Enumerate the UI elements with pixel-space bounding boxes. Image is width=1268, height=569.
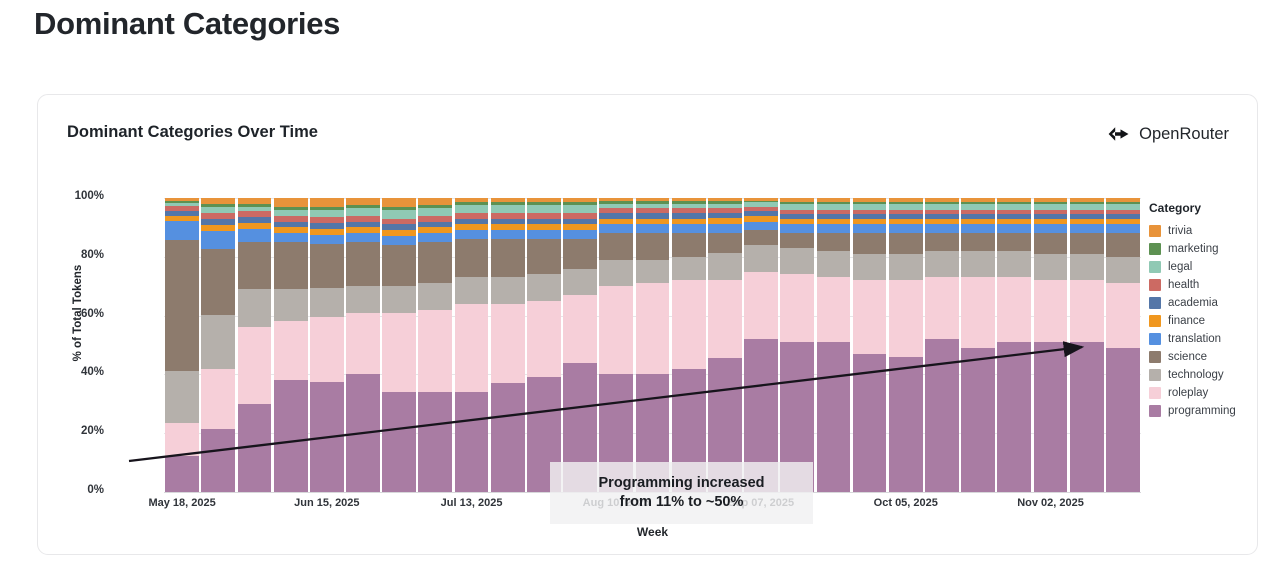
bar-column[interactable]: [817, 198, 851, 492]
bar-segment-marketing: [636, 201, 670, 204]
bar-segment-marketing: [274, 207, 308, 210]
x-axis-label: Week: [164, 525, 1141, 539]
bar-segment-legal: [672, 204, 706, 208]
bar-segment-finance: [599, 219, 633, 225]
chart-card: Dominant Categories Over Time OpenRouter…: [37, 94, 1258, 555]
bar-segment-science: [491, 239, 525, 277]
bar-column[interactable]: [708, 198, 742, 492]
bar-segment-trivia: [853, 198, 887, 202]
bar-segment-science: [527, 239, 561, 274]
bar-segment-legal: [418, 208, 452, 215]
annotation-line-1: Programming increased: [599, 474, 765, 493]
bar-segment-finance: [925, 219, 959, 225]
bar-column[interactable]: [1070, 198, 1104, 492]
bar-segment-health: [780, 210, 814, 214]
legend-label: finance: [1168, 315, 1205, 327]
bar-segment-science: [708, 233, 742, 253]
bar-segment-marketing: [346, 205, 380, 208]
bar-column[interactable]: [491, 198, 525, 492]
bar-segment-health: [708, 208, 742, 212]
bar-segment-marketing: [491, 202, 525, 205]
bar-segment-translation: [201, 231, 235, 249]
bar-segment-marketing: [708, 201, 742, 204]
x-tick-label: Nov 02, 2025: [991, 497, 1111, 509]
legend-swatch-finance: [1149, 315, 1161, 327]
legend-swatch-roleplay: [1149, 387, 1161, 399]
bar-segment-legal: [165, 203, 199, 206]
bar-segment-roleplay: [889, 280, 923, 356]
legend-swatch-translation: [1149, 333, 1161, 345]
legend-label: science: [1168, 351, 1207, 363]
bar-segment-science: [672, 233, 706, 257]
bar-segment-programming: [961, 348, 995, 492]
bar-segment-technology: [455, 277, 489, 303]
bar-segment-roleplay: [418, 310, 452, 392]
bar-segment-trivia: [1106, 198, 1140, 202]
bar-segment-science: [310, 244, 344, 288]
bar-segment-technology: [563, 269, 597, 295]
bar-segment-roleplay: [780, 274, 814, 342]
bar-segment-academia: [1106, 214, 1140, 218]
bar-segment-marketing: [961, 202, 995, 203]
bar-segment-trivia: [165, 198, 199, 201]
bar-segment-programming: [1034, 342, 1068, 492]
bar-segment-technology: [165, 371, 199, 423]
bar-segment-science: [636, 233, 670, 259]
bar-segment-health: [491, 213, 525, 219]
bar-segment-translation: [925, 224, 959, 233]
bar-segment-translation: [817, 224, 851, 233]
bar-segment-legal: [491, 205, 525, 212]
x-tick-label: Jul 13, 2025: [412, 497, 532, 509]
bar-segment-marketing: [165, 201, 199, 203]
bar-segment-finance: [744, 216, 778, 222]
legend-title: Category: [1149, 201, 1268, 215]
bar-segment-legal: [817, 204, 851, 210]
bar-segment-technology: [599, 260, 633, 286]
legend-item-science[interactable]: science: [1149, 348, 1268, 366]
bar-segment-roleplay: [1034, 280, 1068, 342]
bar-segment-finance: [165, 216, 199, 221]
bar-segment-science: [274, 242, 308, 289]
bar-segment-legal: [455, 205, 489, 212]
bar-segment-academia: [853, 214, 887, 218]
bar-column[interactable]: [455, 198, 489, 492]
bar-segment-technology: [418, 283, 452, 309]
legend-item-academia[interactable]: academia: [1149, 294, 1268, 312]
bar-segment-technology: [997, 251, 1031, 277]
bar-segment-programming: [165, 456, 199, 492]
legend-label: legal: [1168, 261, 1192, 273]
bar-column[interactable]: [672, 198, 706, 492]
bar-segment-technology: [491, 277, 525, 303]
bar-segment-health: [1106, 210, 1140, 214]
bar-segment-academia: [563, 219, 597, 225]
bar-segment-roleplay: [346, 313, 380, 375]
bar-segment-finance: [274, 227, 308, 233]
x-tick-label: Oct 05, 2025: [846, 497, 966, 509]
bar-segment-translation: [527, 230, 561, 239]
bar-segment-marketing: [599, 201, 633, 204]
bar-column[interactable]: [853, 198, 887, 492]
bar-column[interactable]: [889, 198, 923, 492]
bar-segment-trivia: [310, 198, 344, 207]
bar-segment-health: [1070, 210, 1104, 214]
annotation-line-2: from 11% to ~50%: [620, 493, 744, 512]
legend-item-trivia[interactable]: trivia: [1149, 222, 1268, 240]
bar-segment-roleplay: [274, 321, 308, 380]
bar-segment-legal: [1070, 204, 1104, 210]
bar-segment-roleplay: [201, 369, 235, 429]
bar-segment-marketing: [527, 202, 561, 205]
bar-segment-academia: [599, 213, 633, 219]
bar-segment-roleplay: [708, 280, 742, 359]
bar-segment-legal: [780, 204, 814, 210]
bar-segment-science: [997, 233, 1031, 251]
bar-segment-programming: [201, 429, 235, 492]
legend-swatch-health: [1149, 279, 1161, 291]
bar-segment-technology: [346, 286, 380, 312]
bar-segment-science: [563, 239, 597, 268]
bar-segment-finance: [853, 219, 887, 225]
bar-segment-roleplay: [1070, 280, 1104, 342]
bar-segment-programming: [455, 392, 489, 492]
bar-segment-science: [165, 240, 199, 371]
bar-segment-health: [1034, 210, 1068, 214]
bar-segment-translation: [310, 235, 344, 244]
bar-segment-technology: [1070, 254, 1104, 280]
bar-segment-finance: [346, 227, 380, 233]
bar-segment-science: [961, 233, 995, 251]
legend-item-health[interactable]: health: [1149, 276, 1268, 294]
bar-segment-finance: [672, 219, 706, 225]
bar-segment-science: [1106, 233, 1140, 257]
bar-segment-academia: [382, 224, 416, 230]
bar-segment-academia: [165, 211, 199, 216]
bar-segment-finance: [238, 223, 272, 229]
bar-segment-technology: [925, 251, 959, 277]
bar-segment-translation: [636, 224, 670, 233]
bar-segment-technology: [382, 286, 416, 312]
bar-column[interactable]: [961, 198, 995, 492]
bar-segment-health: [925, 210, 959, 214]
legend-item-marketing[interactable]: marketing: [1149, 240, 1268, 258]
bar-segment-legal: [563, 205, 597, 212]
bar-segment-finance: [1034, 219, 1068, 225]
bar-segment-health: [201, 213, 235, 219]
bar-segment-finance: [527, 224, 561, 230]
bar-segment-science: [780, 233, 814, 248]
bar-segment-trivia: [672, 198, 706, 201]
bar-segment-programming: [889, 357, 923, 492]
bar-segment-marketing: [382, 207, 416, 210]
legend-label: roleplay: [1168, 387, 1208, 399]
bar-segment-programming: [238, 404, 272, 492]
legend-swatch-trivia: [1149, 225, 1161, 237]
bar-segment-academia: [1070, 214, 1104, 218]
bar-segment-marketing: [1034, 202, 1068, 203]
legend-swatch-programming: [1149, 405, 1161, 417]
bar-segment-trivia: [1070, 198, 1104, 202]
bar-segment-health: [997, 210, 1031, 214]
bar-segment-health: [346, 216, 380, 222]
bar-segment-trivia: [889, 198, 923, 202]
bar-column[interactable]: [1034, 198, 1068, 492]
bar-segment-academia: [780, 214, 814, 218]
bar-segment-health: [853, 210, 887, 214]
bar-segment-finance: [708, 218, 742, 224]
bar-segment-academia: [491, 219, 525, 225]
bar-segment-academia: [201, 219, 235, 225]
bar-segment-legal: [925, 204, 959, 210]
bar-segment-marketing: [817, 202, 851, 203]
bar-segment-academia: [455, 219, 489, 225]
bar-column[interactable]: [925, 198, 959, 492]
bar-column[interactable]: [382, 198, 416, 492]
bar-segment-academia: [925, 214, 959, 218]
bar-column[interactable]: [997, 198, 1031, 492]
bar-segment-finance: [418, 227, 452, 233]
bar-segment-trivia: [599, 198, 633, 201]
bar-segment-trivia: [817, 198, 851, 202]
bar-segment-academia: [744, 211, 778, 215]
bar-segment-programming: [925, 339, 959, 492]
annotation-callout: Programming increased from 11% to ~50%: [550, 462, 813, 524]
legend-item-technology[interactable]: technology: [1149, 366, 1268, 384]
legend-label: academia: [1168, 297, 1218, 309]
bar-segment-marketing: [889, 202, 923, 203]
bar-segment-finance: [997, 219, 1031, 225]
bar-column[interactable]: [563, 198, 597, 492]
bar-segment-academia: [310, 223, 344, 229]
bar-segment-legal: [599, 204, 633, 208]
bar-segment-programming: [310, 382, 344, 492]
bar-segment-finance: [201, 225, 235, 231]
bar-segment-translation: [238, 229, 272, 242]
bar-segment-trivia: [418, 198, 452, 205]
bar-segment-marketing: [310, 207, 344, 210]
bar-segment-roleplay: [382, 313, 416, 392]
bar-column[interactable]: [527, 198, 561, 492]
bar-segment-academia: [672, 213, 706, 219]
bar-segment-marketing: [238, 204, 272, 207]
bar-segment-science: [382, 245, 416, 286]
bar-segment-technology: [1106, 257, 1140, 283]
bar-segment-trivia: [346, 198, 380, 205]
bar-segment-marketing: [563, 202, 597, 205]
bar-segment-technology: [310, 288, 344, 317]
y-tick-label: 20%: [48, 425, 104, 437]
legend-item-programming[interactable]: programming: [1149, 402, 1268, 420]
bar-segment-finance: [780, 219, 814, 225]
bar-segment-translation: [1106, 224, 1140, 233]
legend-swatch-marketing: [1149, 243, 1161, 255]
bar-segment-marketing: [672, 201, 706, 204]
x-tick-label: Jun 15, 2025: [267, 497, 387, 509]
bar-segment-roleplay: [165, 423, 199, 456]
bar-column[interactable]: [1106, 198, 1140, 492]
bar-segment-technology: [1034, 254, 1068, 280]
bar-segment-technology: [961, 251, 995, 277]
bar-segment-academia: [527, 219, 561, 225]
bar-segment-health: [238, 211, 272, 217]
legend-swatch-academia: [1149, 297, 1161, 309]
y-tick-label: 100%: [48, 190, 104, 202]
bar-column[interactable]: [418, 198, 452, 492]
legend-item-legal[interactable]: legal: [1149, 258, 1268, 276]
bar-segment-science: [238, 242, 272, 289]
bar-segment-academia: [708, 213, 742, 219]
bar-segment-roleplay: [563, 295, 597, 363]
bar-segment-programming: [382, 392, 416, 492]
legend-item-roleplay[interactable]: roleplay: [1149, 384, 1268, 402]
bar-segment-translation: [455, 230, 489, 239]
bar-segment-programming: [817, 342, 851, 492]
bar-segment-programming: [1106, 348, 1140, 492]
bar-segment-translation: [889, 224, 923, 233]
legend: Category triviamarketinglegalhealthacade…: [1149, 201, 1268, 420]
bar-segment-trivia: [274, 198, 308, 207]
bar-segment-technology: [201, 315, 235, 369]
bar-segment-academia: [817, 214, 851, 218]
bar-column[interactable]: [201, 198, 235, 492]
bar-segment-health: [455, 213, 489, 219]
legend-swatch-science: [1149, 351, 1161, 363]
bar-segment-health: [961, 210, 995, 214]
bar-segment-technology: [853, 254, 887, 280]
legend-label: programming: [1168, 405, 1236, 417]
bar-segment-finance: [491, 224, 525, 230]
bar-segment-health: [744, 207, 778, 211]
bar-segment-academia: [238, 217, 272, 223]
bar-segment-health: [527, 213, 561, 219]
bar-segment-translation: [382, 236, 416, 245]
bar-segment-programming: [997, 342, 1031, 492]
bar-segment-academia: [889, 214, 923, 218]
bar-segment-legal: [744, 202, 778, 206]
bar-segment-technology: [889, 254, 923, 280]
x-tick-label: May 18, 2025: [122, 497, 242, 509]
bar-segment-roleplay: [997, 277, 1031, 342]
bar-segment-roleplay: [527, 301, 561, 377]
bar-segment-legal: [274, 210, 308, 216]
bar-segment-programming: [346, 374, 380, 492]
legend-label: technology: [1168, 369, 1224, 381]
bar-segment-technology: [780, 248, 814, 274]
bar-segment-legal: [636, 204, 670, 208]
bar-segment-roleplay: [238, 327, 272, 403]
bar-segment-marketing: [418, 205, 452, 208]
bar-segment-health: [274, 216, 308, 222]
bar-segment-finance: [1106, 219, 1140, 225]
bar-segment-legal: [889, 204, 923, 210]
bar-segment-health: [310, 217, 344, 223]
legend-item-finance[interactable]: finance: [1149, 312, 1268, 330]
bar-segment-health: [563, 213, 597, 219]
bar-segment-roleplay: [925, 277, 959, 339]
bar-segment-technology: [527, 274, 561, 300]
bar-segment-trivia: [491, 198, 525, 202]
bar-segment-health: [382, 219, 416, 225]
bar-segment-roleplay: [817, 277, 851, 342]
bar-segment-marketing: [997, 202, 1031, 203]
bar-segment-science: [817, 233, 851, 251]
bar-segment-science: [889, 233, 923, 254]
bar-segment-roleplay: [744, 272, 778, 340]
bar-segment-technology: [817, 251, 851, 277]
bar-segment-academia: [418, 222, 452, 228]
bar-column[interactable]: [636, 198, 670, 492]
bar-column[interactable]: [599, 198, 633, 492]
bar-segment-legal: [238, 207, 272, 211]
legend-swatch-technology: [1149, 369, 1161, 381]
bar-segment-trivia: [382, 198, 416, 207]
bar-segment-translation: [744, 222, 778, 231]
bar-segment-roleplay: [310, 317, 344, 382]
bar-segment-technology: [708, 253, 742, 279]
bar-segment-science: [925, 233, 959, 251]
bar-segment-roleplay: [599, 286, 633, 374]
bar-segment-science: [1070, 233, 1104, 254]
bar-column[interactable]: [346, 198, 380, 492]
legend-label: health: [1168, 279, 1199, 291]
bar-segment-health: [889, 210, 923, 214]
bar-segment-academia: [636, 213, 670, 219]
bar-segment-roleplay: [455, 304, 489, 392]
bar-segment-translation: [997, 224, 1031, 233]
bar-segment-legal: [310, 210, 344, 217]
bar-segment-roleplay: [672, 280, 706, 368]
legend-label: translation: [1168, 333, 1221, 345]
bar-segment-health: [599, 208, 633, 212]
bar-column[interactable]: [310, 198, 344, 492]
bar-segment-legal: [997, 204, 1031, 210]
bar-segment-science: [455, 239, 489, 277]
bar-segment-academia: [346, 222, 380, 228]
bar-segment-science: [599, 233, 633, 259]
legend-item-translation[interactable]: translation: [1149, 330, 1268, 348]
bar-segment-translation: [346, 233, 380, 242]
bar-segment-translation: [165, 221, 199, 241]
bar-segment-science: [201, 249, 235, 315]
bar-segment-finance: [310, 229, 344, 235]
legend-items: triviamarketinglegalhealthacademiafinanc…: [1149, 222, 1268, 420]
bar-segment-translation: [961, 224, 995, 233]
bar-segment-legal: [853, 204, 887, 210]
bar-column[interactable]: [238, 198, 272, 492]
bar-segment-programming: [853, 354, 887, 492]
bar-segment-translation: [491, 230, 525, 239]
bar-segment-science: [418, 242, 452, 283]
bar-column[interactable]: [780, 198, 814, 492]
bar-column[interactable]: [165, 198, 199, 492]
bar-segment-finance: [889, 219, 923, 225]
bar-segment-trivia: [744, 198, 778, 201]
bar-segment-programming: [1070, 342, 1104, 492]
bar-segment-academia: [274, 222, 308, 228]
bar-segment-technology: [672, 257, 706, 281]
bar-segment-finance: [1070, 219, 1104, 225]
bar-column[interactable]: [274, 198, 308, 492]
legend-swatch-legal: [1149, 261, 1161, 273]
bar-segment-academia: [997, 214, 1031, 218]
bar-segment-marketing: [780, 202, 814, 203]
bar-segment-translation: [708, 224, 742, 233]
bar-segment-technology: [274, 289, 308, 321]
bar-column[interactable]: [744, 198, 778, 492]
bar-segment-roleplay: [961, 277, 995, 348]
bar-segment-trivia: [201, 198, 235, 204]
